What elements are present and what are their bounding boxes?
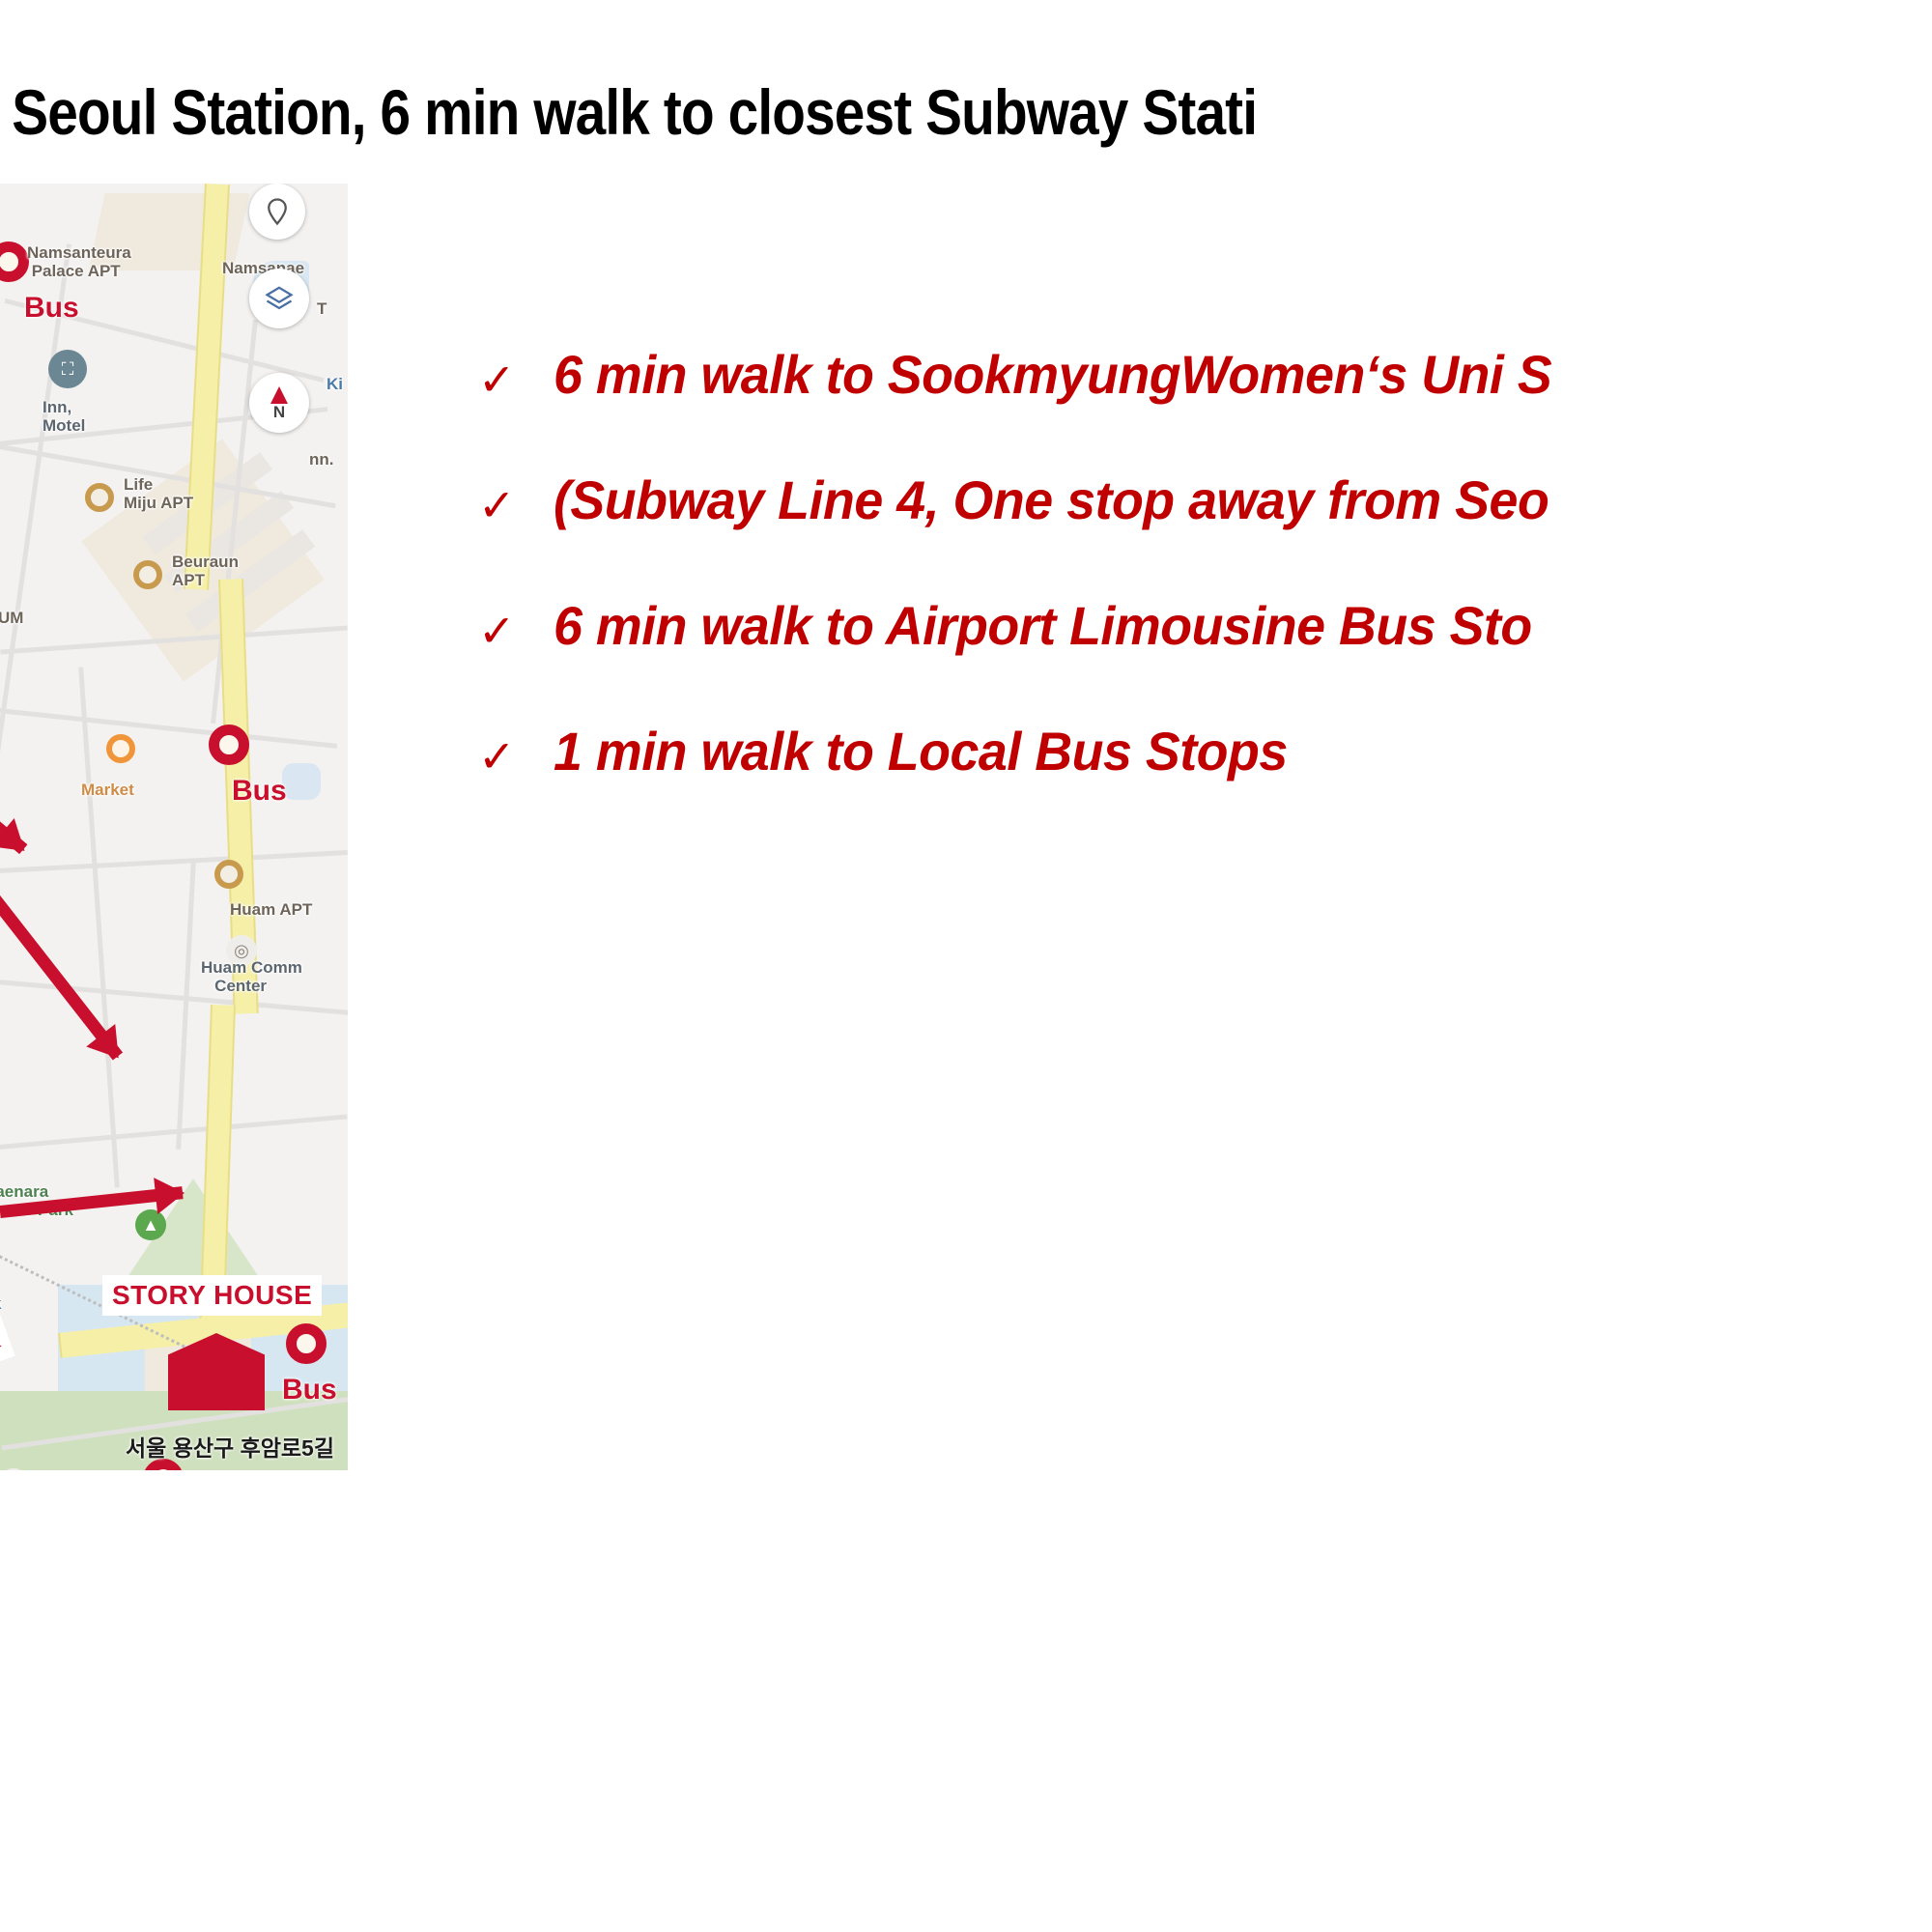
list-item: ✓ 6 min walk to SookmyungWomen‘s Uni S xyxy=(478,328,1932,454)
bullet-text: 1 min walk to Local Bus Stops xyxy=(554,715,1288,788)
list-item: ✓ 6 min walk to Airport Limousine Bus St… xyxy=(478,580,1932,705)
list-item: ✓ 1 min walk to Local Bus Stops xyxy=(478,705,1932,831)
poi-label-ki: Ki xyxy=(327,375,343,393)
bus-marker[interactable] xyxy=(209,724,249,765)
bullet-text: 6 min walk to Airport Limousine Bus Sto xyxy=(554,589,1532,663)
bullet-text: (Subway Line 4, One stop away from Seo xyxy=(554,464,1548,537)
check-icon: ✓ xyxy=(478,609,516,653)
park-icon[interactable]: ▲ xyxy=(135,1209,166,1240)
compass-letter: N xyxy=(273,404,285,420)
bullet-list: ✓ 6 min walk to SookmyungWomen‘s Uni S ✓… xyxy=(478,328,1932,831)
story-house-label: STORY HOUSE xyxy=(102,1275,322,1316)
poi-label-t: T xyxy=(317,299,327,318)
address-korean: 서울 용산구 후암로5길 xyxy=(126,1430,334,1463)
bus-label: Bus xyxy=(24,292,79,325)
check-icon: ✓ xyxy=(478,357,516,402)
bus-marker[interactable] xyxy=(286,1323,327,1364)
hotel-icon[interactable]: ⛶ xyxy=(48,350,87,388)
poi-label-inn-motel: Inn, Motel xyxy=(43,398,85,435)
poi-label-huam-community: Huam Comm Center xyxy=(201,958,302,995)
list-item: ✓ (Subway Line 4, One stop away from Seo xyxy=(478,454,1932,580)
slide-canvas: tion to Seoul Station, 6 min walk to clo… xyxy=(0,0,1932,1932)
check-icon: ✓ xyxy=(478,483,516,527)
poi-label-k: k xyxy=(0,1294,1,1313)
poi-label-market: Market xyxy=(81,781,134,799)
poi-label-life-miju: Life Miju APT xyxy=(124,475,193,512)
map-pin-icon xyxy=(263,197,292,226)
compass-needle-icon xyxy=(270,386,288,404)
check-icon: ✓ xyxy=(478,734,516,779)
map-water xyxy=(282,763,321,800)
bullet-text: 6 min walk to SookmyungWomen‘s Uni S xyxy=(554,338,1551,412)
poi-label-nn: nn. xyxy=(309,450,334,469)
map-canvas: Bus Namsanteura Palace APT ⛶ Inn, Motel … xyxy=(0,184,348,1470)
apartment-icon[interactable] xyxy=(214,860,243,889)
map-panel[interactable]: Bus Namsanteura Palace APT ⛶ Inn, Motel … xyxy=(0,184,348,1470)
apartment-icon[interactable] xyxy=(133,560,162,589)
poi-label-namsanteura: Namsanteura Palace APT xyxy=(27,243,131,280)
layers-button[interactable] xyxy=(249,184,305,240)
layers-toggle-button[interactable] xyxy=(249,269,309,328)
layers-icon xyxy=(265,284,294,313)
bus-label: Bus xyxy=(282,1374,337,1406)
poi-label-huam-apt: Huam APT xyxy=(230,900,312,919)
bus-label: Bus xyxy=(232,775,287,808)
apartment-icon[interactable] xyxy=(85,483,114,512)
poi-label-beuraun: Beuraun APT xyxy=(172,553,239,589)
market-icon[interactable] xyxy=(106,734,135,763)
page-title: tion to Seoul Station, 6 min walk to clo… xyxy=(0,70,1714,155)
compass-button[interactable]: N xyxy=(249,373,309,433)
poi-label-um: UM xyxy=(0,609,23,627)
